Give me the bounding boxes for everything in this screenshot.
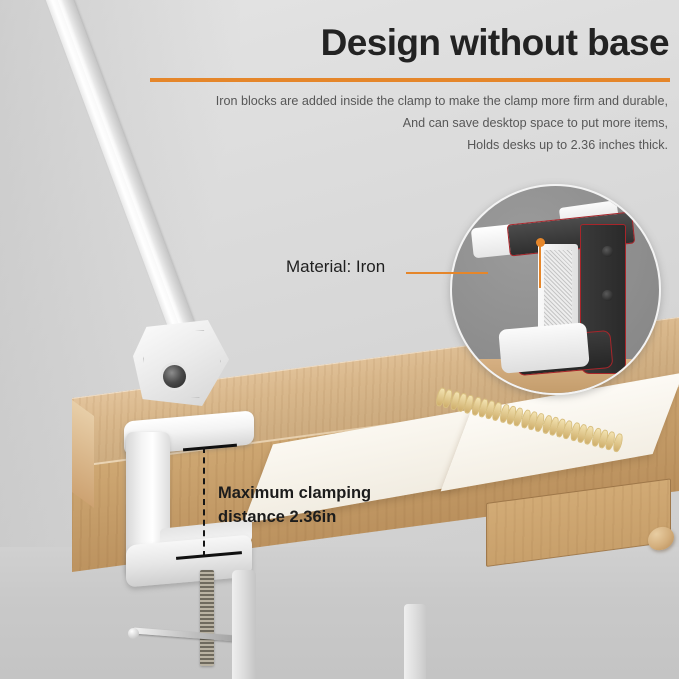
description-line-1: Iron blocks are added inside the clamp t… [68, 90, 668, 112]
clamp-screw-shaft [200, 570, 214, 666]
measurement-dashed-line [203, 447, 205, 557]
inset-screw-hole-icon [602, 290, 613, 301]
material-callout-leader-line [406, 272, 488, 274]
desk-left-end-cap [72, 400, 94, 508]
description-text: Iron blocks are added inside the clamp t… [68, 90, 668, 156]
description-line-3: Holds desks up to 2.36 inches thick. [68, 134, 668, 156]
product-feature-image: Design without base Iron blocks are adde… [0, 0, 679, 679]
page-title: Design without base [109, 24, 669, 63]
measurement-label: Maximum clamping distance 2.36in [218, 481, 371, 529]
material-callout-label: Material: Iron [286, 257, 385, 277]
measurement-label-line-1: Maximum clamping [218, 481, 371, 505]
clamp-screw-handle-tip [128, 628, 139, 639]
title-divider-rule [150, 78, 670, 82]
inset-screw-hole-icon [602, 246, 613, 257]
hinge-screw-icon [163, 365, 186, 388]
clamp-cutaway-inset [450, 184, 661, 395]
callout-marker-stem [539, 242, 541, 288]
callout-marker-dot [536, 238, 545, 247]
desk-leg [404, 604, 426, 679]
measurement-label-line-2: distance 2.36in [218, 505, 371, 529]
description-line-2: And can save desktop space to put more i… [68, 112, 668, 134]
lamp-post [232, 570, 256, 679]
inset-shell-foot [498, 322, 590, 374]
